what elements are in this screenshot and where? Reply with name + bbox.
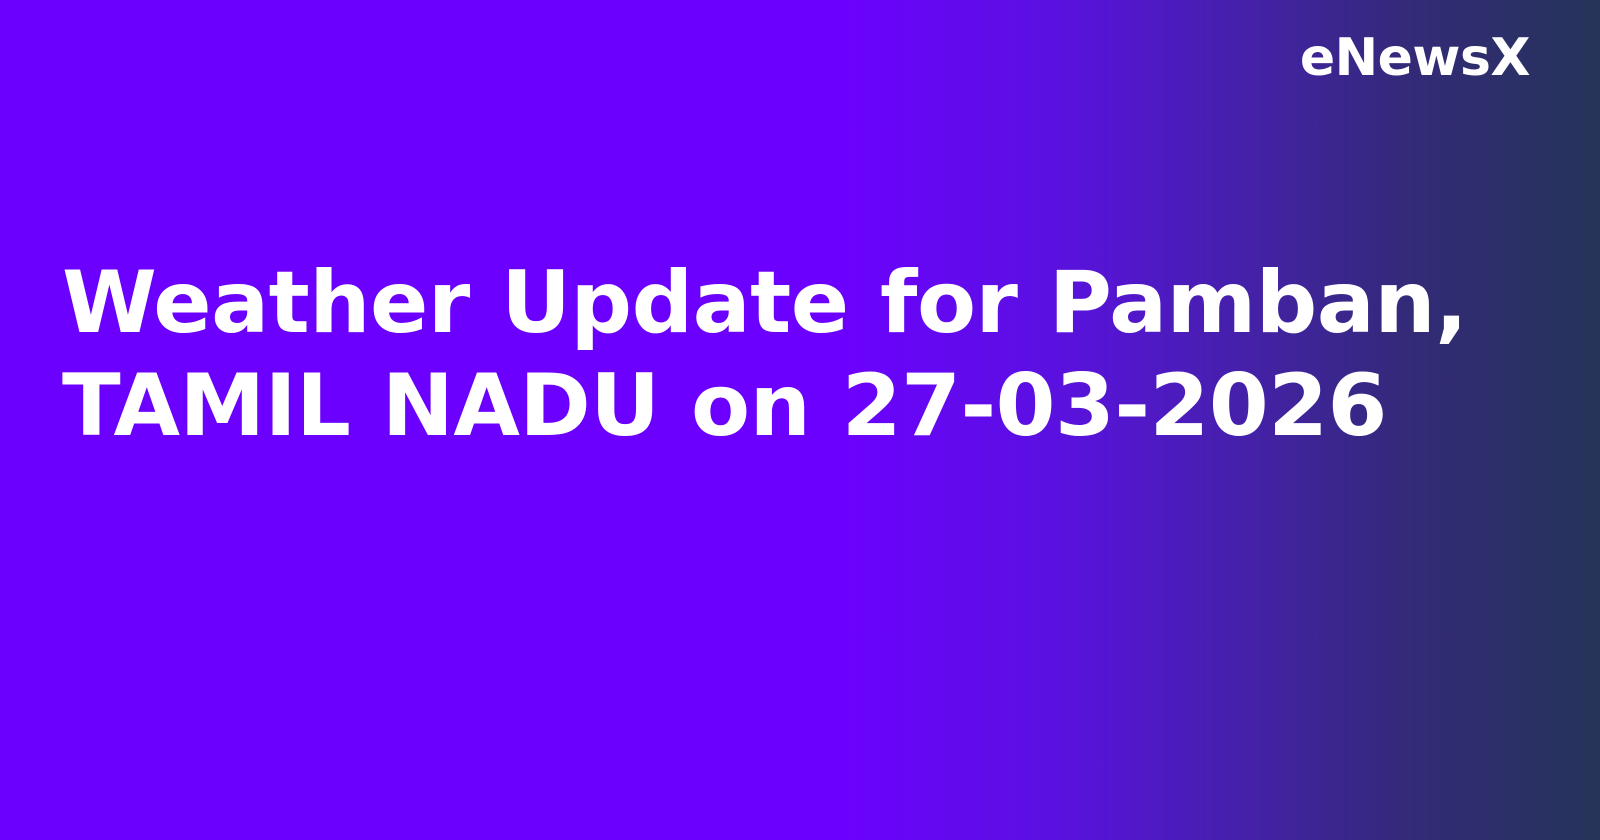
weather-update-banner: eNewsX Weather Update for Pamban, TAMIL … bbox=[0, 0, 1600, 840]
headline-container: Weather Update for Pamban, TAMIL NADU on… bbox=[62, 252, 1462, 458]
page-title: Weather Update for Pamban, TAMIL NADU on… bbox=[62, 252, 1462, 458]
page-title-line-2: TAMIL NADU on 27-03-2026 bbox=[62, 355, 1462, 458]
page-title-line-1: Weather Update for Pamban, bbox=[62, 252, 1462, 355]
site-logo-enewsx[interactable]: eNewsX bbox=[1300, 32, 1530, 84]
